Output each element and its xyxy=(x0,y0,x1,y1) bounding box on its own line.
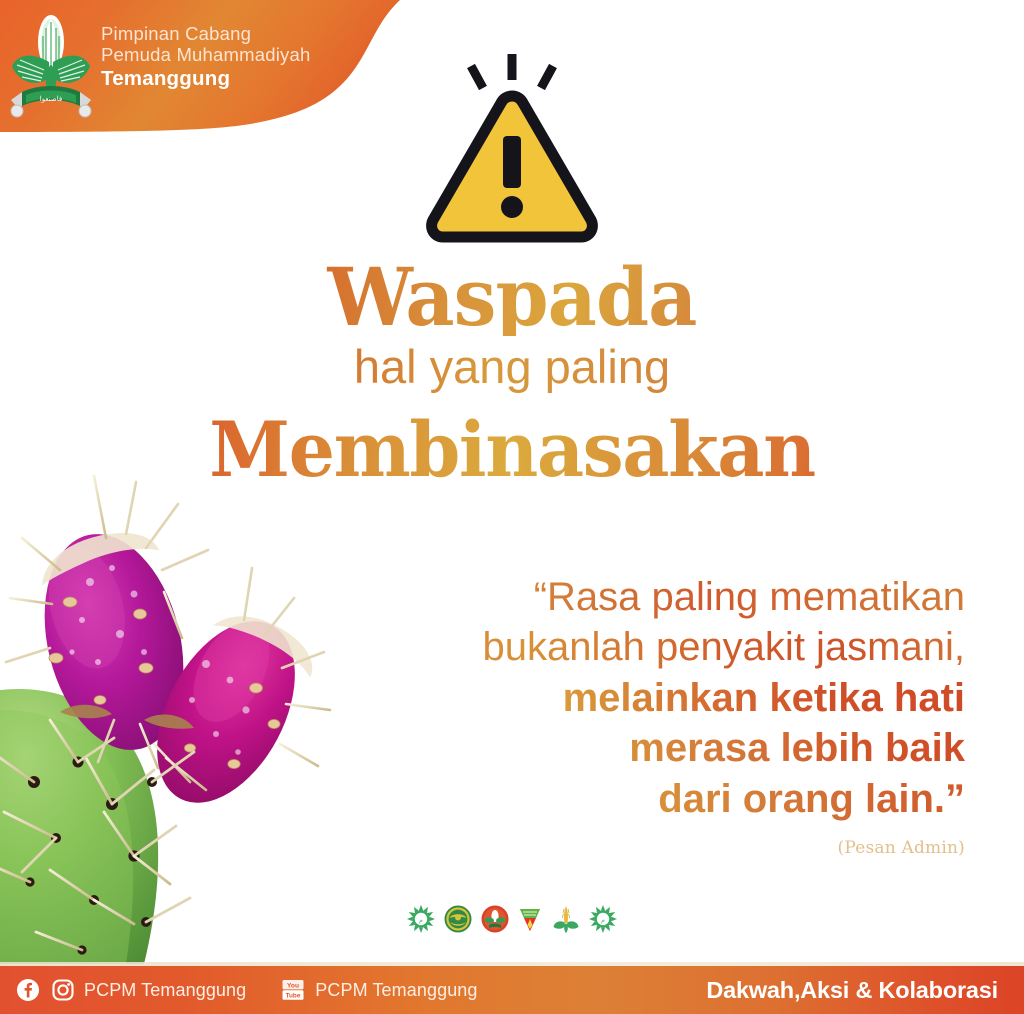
aisyiyah-emblem-icon xyxy=(443,904,473,934)
headline-subtitle: hal yang paling xyxy=(0,338,1024,397)
quote-line-2: bukanlah penyakit jasmani, xyxy=(400,622,965,672)
footer-tagline: Dakwah,Aksi & Kolaborasi xyxy=(706,977,1024,1004)
facebook-icon[interactable] xyxy=(16,978,40,1002)
youtube-handle-label: PCPM Temanggung xyxy=(315,980,477,1001)
headline-secondary: Membinasakan xyxy=(20,411,1003,489)
footer-bar: PCPM Temanggung You Tube PCPM Temanggung… xyxy=(0,966,1024,1014)
muhammadiyah-sun-emblem-icon-2: م xyxy=(588,904,618,934)
quote-attribution: (Pesan Admin) xyxy=(400,838,965,858)
ipm-emblem-icon xyxy=(516,904,544,934)
poster-canvas: فاصنعوا Pimpinan Cabang Pemuda Muhammadi… xyxy=(0,0,1024,1014)
svg-text:Tube: Tube xyxy=(286,993,301,1000)
quote-line-3: melainkan ketika hati xyxy=(400,673,965,723)
quote-text: “Rasa paling mematikan bukanlah penyakit… xyxy=(400,572,965,824)
pemuda-muhammadiyah-emblem-icon-small xyxy=(480,904,510,934)
muhammadiyah-sun-emblem-icon: م xyxy=(406,904,436,934)
prickly-pear-cactus-photo xyxy=(0,452,346,964)
pemuda-muhammadiyah-emblem-icon: فاصنعوا xyxy=(8,12,94,120)
organization-logo-strip: م xyxy=(406,897,618,941)
header-org-title: Pimpinan Cabang Pemuda Muhammadiyah Tema… xyxy=(101,23,310,91)
footer-social-group: PCPM Temanggung You Tube PCPM Temanggung xyxy=(0,977,478,1003)
instagram-icon[interactable] xyxy=(51,978,75,1002)
quote-line-1: “Rasa paling mematikan xyxy=(400,572,965,622)
nasyiatul-aisyiyah-emblem-icon xyxy=(551,904,581,934)
headline-block: Waspada hal yang paling Membinasakan xyxy=(0,258,1024,489)
svg-text:م: م xyxy=(601,917,605,924)
svg-text:م: م xyxy=(419,917,423,924)
quote-line-4: merasa lebih baik xyxy=(400,723,965,773)
headline-primary: Waspada xyxy=(26,258,999,336)
svg-text:فاصنعوا: فاصنعوا xyxy=(40,95,62,103)
svg-text:You: You xyxy=(287,983,299,990)
header-line-3: Temanggung xyxy=(101,67,310,91)
header-line-2: Pemuda Muhammadiyah xyxy=(101,44,310,65)
instagram-handle-label: PCPM Temanggung xyxy=(84,980,246,1001)
quote-line-5: dari orang lain.” xyxy=(400,774,965,824)
youtube-icon[interactable]: You Tube xyxy=(280,977,306,1003)
header-line-1: Pimpinan Cabang xyxy=(101,23,310,44)
